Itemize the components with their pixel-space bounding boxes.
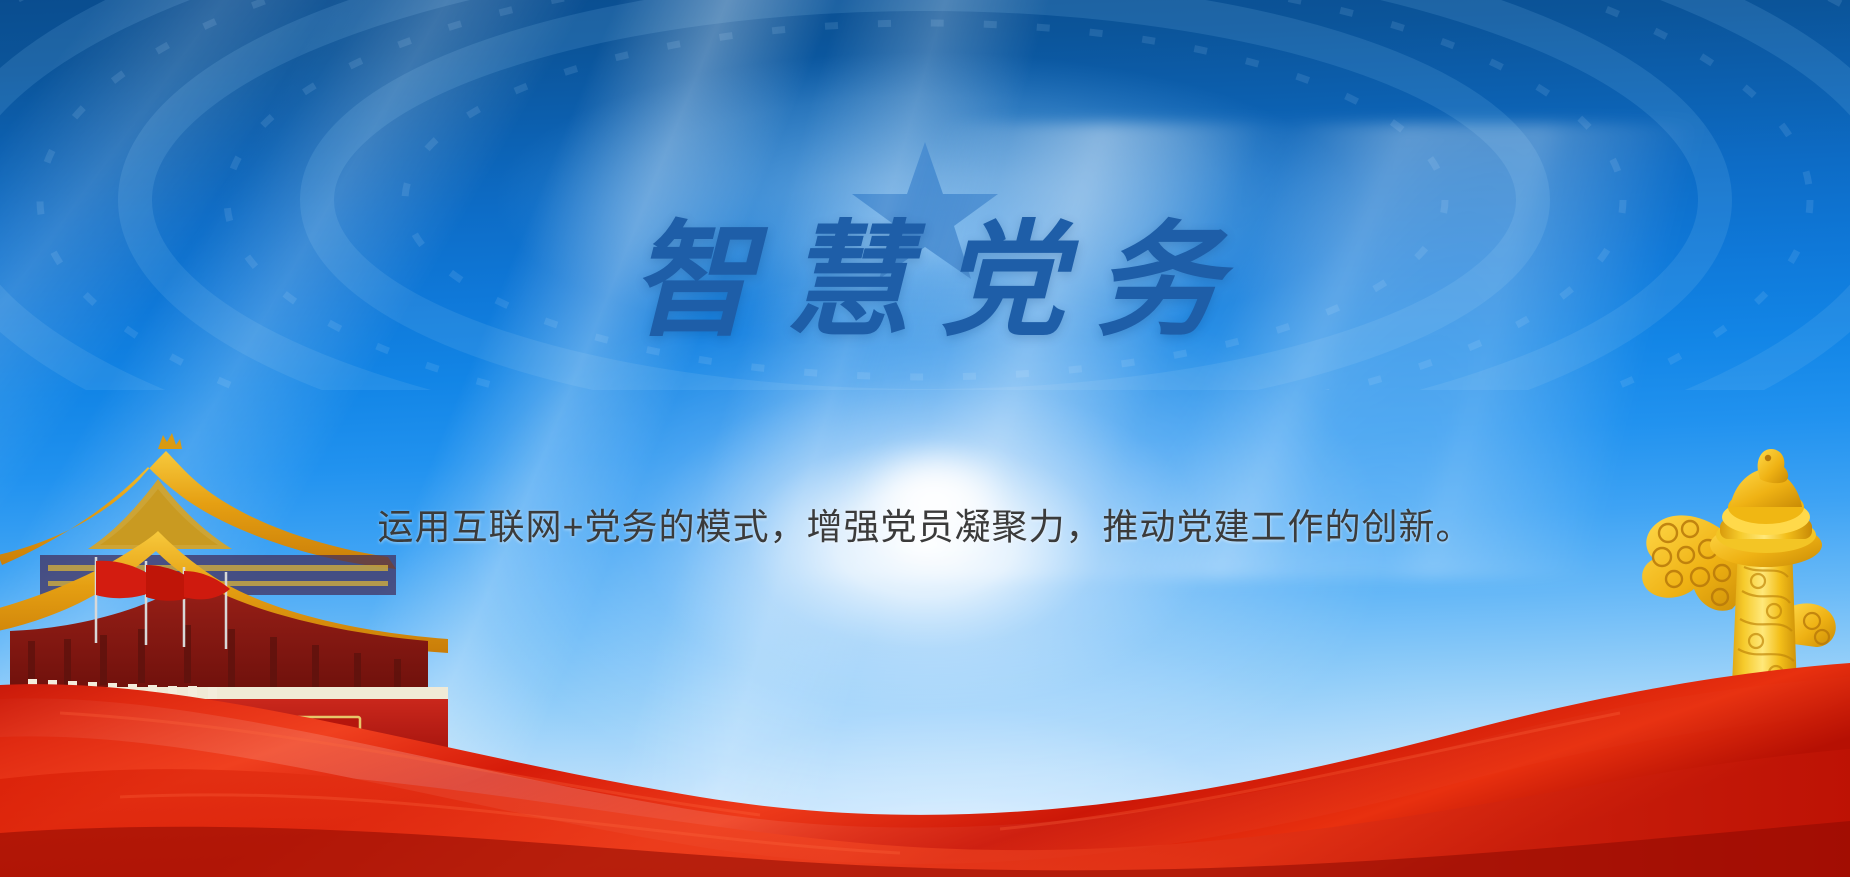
page-subtitle: 运用互联网+党务的模式，增强党员凝聚力，推动党建工作的创新。: [0, 498, 1850, 550]
red-silk-ribbon: [0, 547, 1850, 877]
party-affairs-banner: 智慧党务 运用互联网+党务的模式，增强党员凝聚力，推动党建工作的创新。: [0, 0, 1850, 877]
mythical-beast-icon: [1758, 449, 1789, 483]
page-title: 智慧党务: [0, 216, 1850, 347]
